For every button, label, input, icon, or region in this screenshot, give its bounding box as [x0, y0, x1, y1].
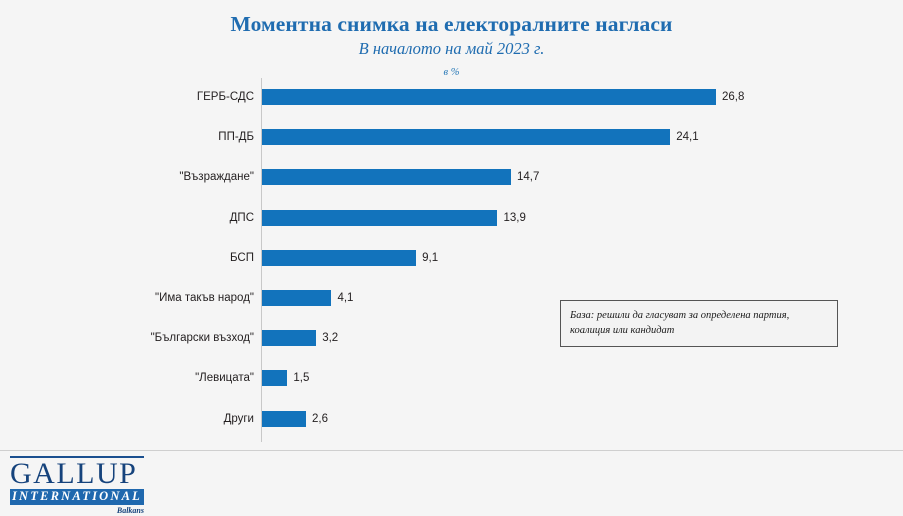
bar: [262, 210, 497, 226]
base-note-box: База: решили да гласуват за определена п…: [560, 300, 838, 347]
bar: [262, 370, 287, 386]
bar-category-label: "Български възход": [14, 328, 254, 348]
bar-category-label: "Левицата": [14, 368, 254, 388]
footer-divider: [0, 450, 903, 451]
logo-subtitle: INTERNATIONAL: [10, 489, 144, 505]
bar-category-label: ГЕРБ-СДС: [14, 87, 254, 107]
bar: [262, 129, 670, 145]
bar-row: БСП9,1: [0, 250, 903, 266]
bar-value-label: 1,5: [293, 368, 309, 388]
bar-value-label: 13,9: [503, 208, 525, 228]
bar: [262, 250, 416, 266]
bar: [262, 169, 511, 185]
chart-units-label: в %: [0, 67, 903, 79]
bar-value-label: 24,1: [676, 127, 698, 147]
bar-chart-plot-area: ГЕРБ-СДС26,8ПП-ДБ24,1"Възраждане"14,7ДПС…: [0, 78, 903, 442]
bar-value-label: 2,6: [312, 409, 328, 429]
logo-wordmark: GALLUP: [10, 459, 148, 488]
logo-band: INTERNATIONAL: [10, 489, 144, 505]
bar: [262, 330, 316, 346]
bar: [262, 411, 306, 427]
chart-subtitle: В началото на май 2023 г.: [0, 40, 903, 59]
bar-value-label: 14,7: [517, 167, 539, 187]
bar-category-label: Други: [14, 409, 254, 429]
bar-value-label: 26,8: [722, 87, 744, 107]
bar-row: ДПС13,9: [0, 210, 903, 226]
bar-row: "Левицата"1,5: [0, 370, 903, 386]
base-note-text: База: решили да гласуват за определена п…: [570, 310, 789, 336]
bar-value-label: 3,2: [322, 328, 338, 348]
chart-header: Моментна снимка на електоралните нагласи…: [0, 12, 903, 78]
bar-category-label: ДПС: [14, 208, 254, 228]
bar-row: Други2,6: [0, 411, 903, 427]
bar-category-label: "Има такъв народ": [14, 288, 254, 308]
bar-row: ГЕРБ-СДС26,8: [0, 89, 903, 105]
bar-value-label: 4,1: [337, 288, 353, 308]
bar-category-label: БСП: [14, 248, 254, 268]
bar-row: "Възраждане"14,7: [0, 169, 903, 185]
bar-row: ПП-ДБ24,1: [0, 129, 903, 145]
bar-category-label: ПП-ДБ: [14, 127, 254, 147]
bar: [262, 89, 716, 105]
slide-canvas: Моментна снимка на електоралните нагласи…: [0, 0, 903, 508]
gallup-international-logo: GALLUP INTERNATIONAL Balkans: [10, 456, 148, 516]
bar-category-label: "Възраждане": [14, 167, 254, 187]
bar: [262, 290, 331, 306]
page-title: Моментна снимка на електоралните нагласи: [0, 12, 903, 37]
bar-value-label: 9,1: [422, 248, 438, 268]
